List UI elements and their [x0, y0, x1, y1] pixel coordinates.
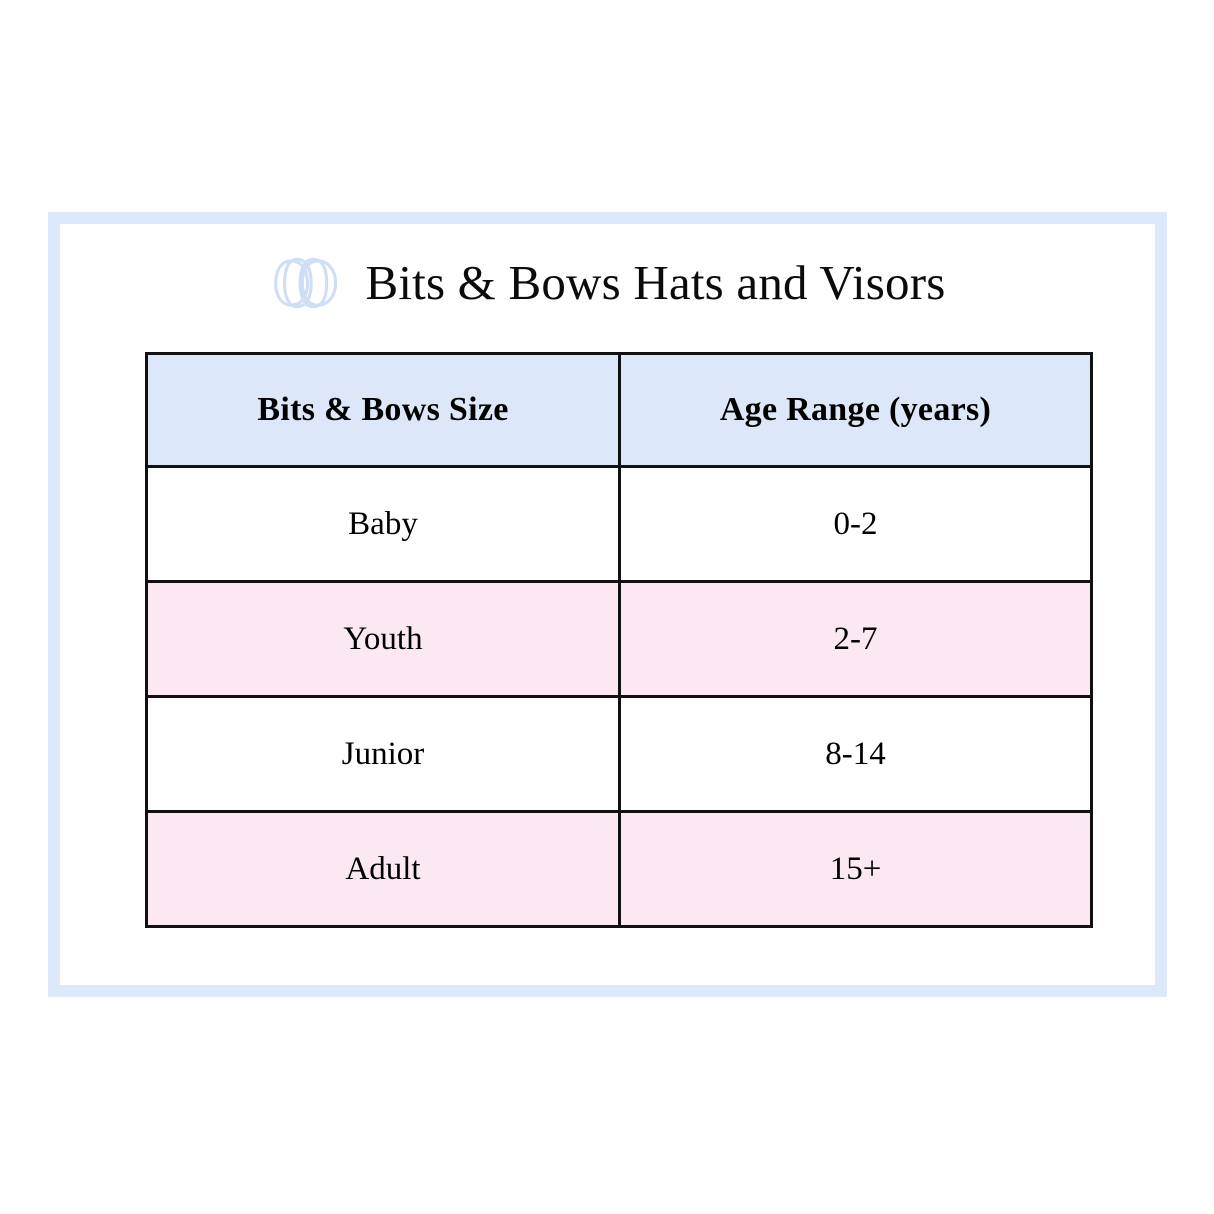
bits-and-bows-monogram-icon	[269, 246, 343, 320]
size-chart-card-inner: Bits & Bows Hats and Visors Bits & Bows …	[60, 224, 1155, 985]
cell-size: Junior	[147, 697, 620, 812]
table-row: Junior 8-14	[147, 697, 1092, 812]
cell-age: 15+	[620, 812, 1092, 927]
table-body: Baby 0-2 Youth 2-7 Junior 8-14 Adult 15+	[147, 467, 1092, 927]
chart-header: Bits & Bows Hats and Visors	[60, 246, 1155, 320]
table-head: Bits & Bows Size Age Range (years)	[147, 354, 1092, 467]
table-header-row: Bits & Bows Size Age Range (years)	[147, 354, 1092, 467]
cell-size: Youth	[147, 582, 620, 697]
cell-size: Baby	[147, 467, 620, 582]
cell-age: 2-7	[620, 582, 1092, 697]
table-row: Baby 0-2	[147, 467, 1092, 582]
table-row: Adult 15+	[147, 812, 1092, 927]
cell-age: 8-14	[620, 697, 1092, 812]
size-chart-table: Bits & Bows Size Age Range (years) Baby …	[145, 352, 1093, 928]
cell-size: Adult	[147, 812, 620, 927]
column-header-age: Age Range (years)	[620, 354, 1092, 467]
column-header-size: Bits & Bows Size	[147, 354, 620, 467]
cell-age: 0-2	[620, 467, 1092, 582]
table-row: Youth 2-7	[147, 582, 1092, 697]
size-chart-card: Bits & Bows Hats and Visors Bits & Bows …	[48, 212, 1167, 997]
page-title: Bits & Bows Hats and Visors	[365, 256, 945, 310]
